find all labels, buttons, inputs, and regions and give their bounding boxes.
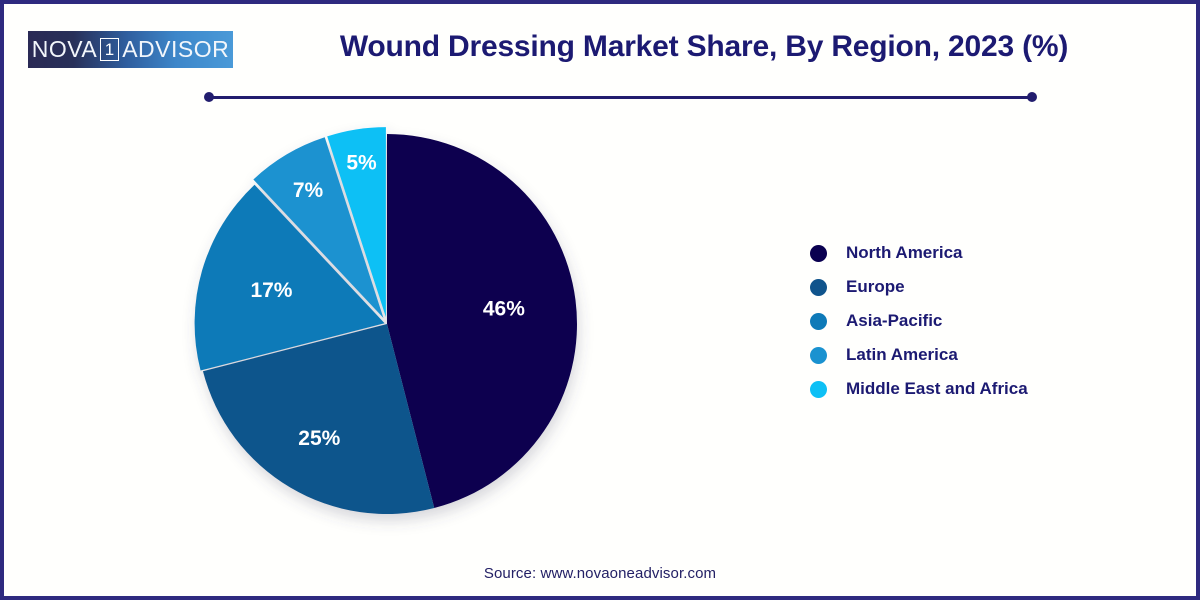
- logo-text-advisor: ADVISOR: [122, 38, 229, 61]
- legend-color-swatch-icon: [810, 381, 827, 398]
- title-divider: [204, 92, 1037, 102]
- pie-slice-label: 46%: [483, 298, 525, 321]
- pie-slice-label: 17%: [250, 279, 292, 302]
- legend-item-label: Middle East and Africa: [846, 379, 1028, 399]
- legend-item[interactable]: Europe: [810, 270, 1140, 304]
- pie-slice-label: 25%: [298, 427, 340, 450]
- logo-badge-one: 1: [100, 38, 119, 61]
- legend-item[interactable]: Latin America: [810, 338, 1140, 372]
- legend-item-label: Europe: [846, 277, 905, 297]
- chart-legend: North AmericaEuropeAsia-PacificLatin Ame…: [810, 236, 1140, 406]
- legend-color-swatch-icon: [810, 279, 827, 296]
- legend-color-swatch-icon: [810, 347, 827, 364]
- nova-advisor-logo: NOVA 1 ADVISOR: [28, 31, 233, 68]
- page-title: Wound Dressing Market Share, By Region, …: [254, 30, 1154, 64]
- pie-slice-label: 5%: [346, 152, 377, 175]
- legend-color-swatch-icon: [810, 313, 827, 330]
- legend-item[interactable]: Asia-Pacific: [810, 304, 1140, 338]
- legend-item-label: Asia-Pacific: [846, 311, 942, 331]
- chart-canvas: NOVA 1 ADVISOR Wound Dressing Market Sha…: [0, 0, 1200, 600]
- legend-item-label: Latin America: [846, 345, 958, 365]
- legend-color-swatch-icon: [810, 245, 827, 262]
- pie-chart: 46%25%17%7%5%: [179, 109, 604, 539]
- source-caption: Source: www.novaoneadvisor.com: [4, 565, 1196, 582]
- logo-text-nova: NOVA: [32, 38, 97, 61]
- pie-chart-svg: 46%25%17%7%5%: [179, 109, 604, 539]
- legend-item[interactable]: Middle East and Africa: [810, 372, 1140, 406]
- legend-item[interactable]: North America: [810, 236, 1140, 270]
- legend-item-label: North America: [846, 243, 963, 263]
- divider-dot-right: [1027, 92, 1037, 102]
- divider-line: [209, 96, 1032, 99]
- pie-slice-label: 7%: [293, 179, 324, 202]
